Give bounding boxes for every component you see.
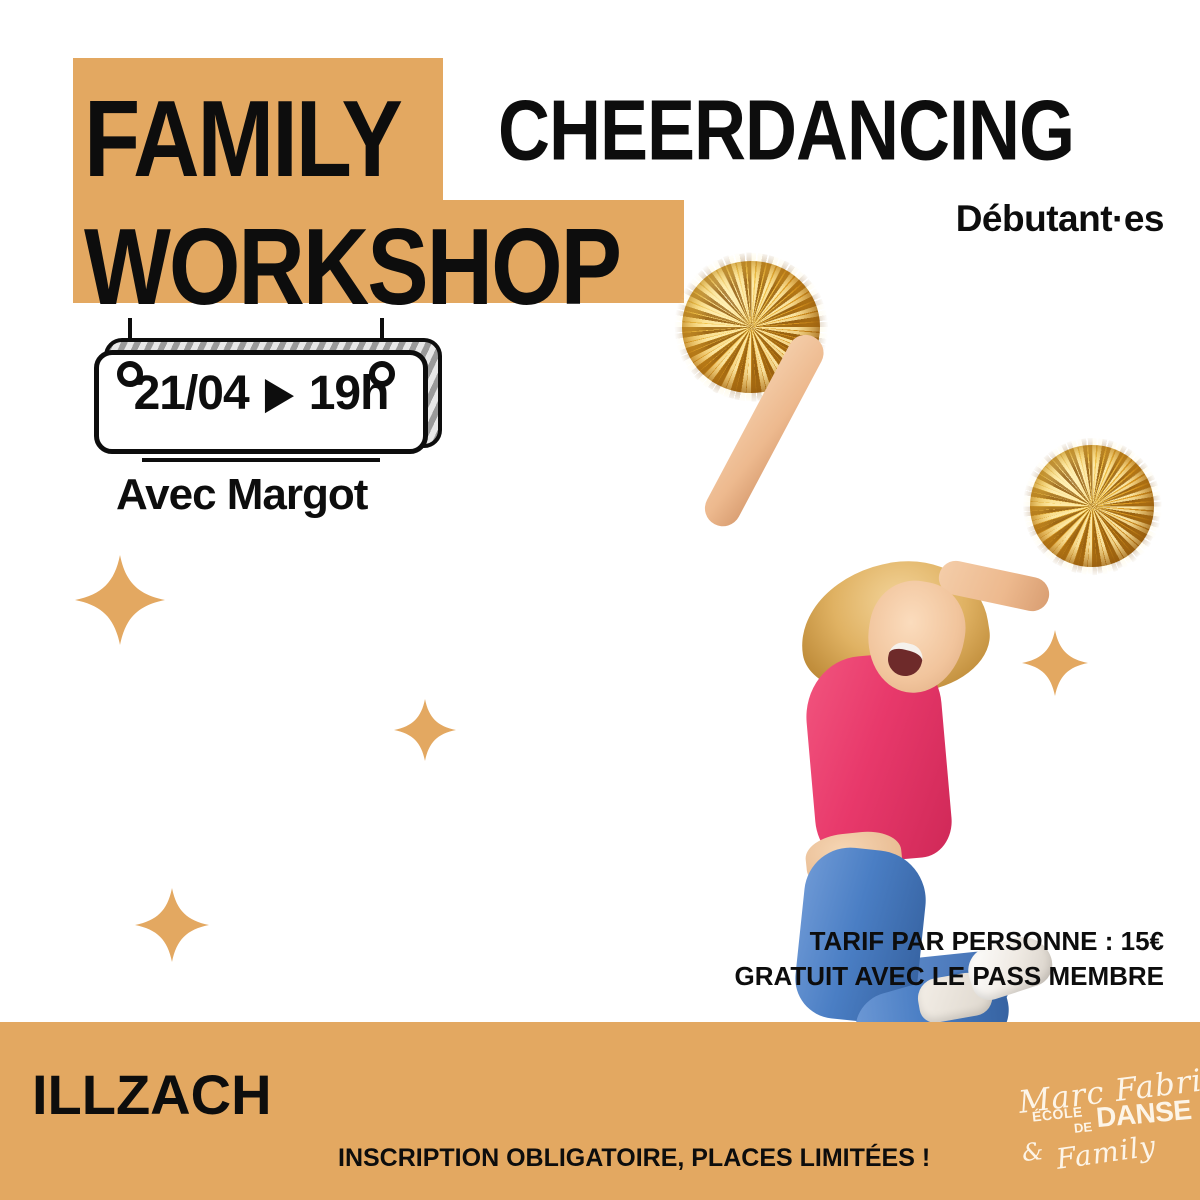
badge-time: 19h <box>309 367 389 420</box>
logo-ampersand: & <box>1021 1137 1045 1167</box>
brand-logo: Marc Fabrici ÉCOLE DE DANSE & Family <box>1012 1050 1182 1180</box>
footer-band: ILLZACH INSCRIPTION OBLIGATOIRE, PLACES … <box>0 1022 1200 1200</box>
star-medium-lower-icon <box>135 888 209 962</box>
pricing-block: TARIF PAR PERSONNE : 15€ GRATUIT AVEC LE… <box>735 924 1165 994</box>
discipline-title: CHEERDANCING <box>498 83 1074 180</box>
price-member-pass: GRATUIT AVEC LE PASS MEMBRE <box>735 959 1165 994</box>
poster-canvas: FAMILY WORKSHOP CHEERDANCING Débutant·es… <box>0 0 1200 1200</box>
badge-datetime-text: 21/04 ▶ 19h <box>90 366 432 421</box>
logo-family-text: Family <box>1054 1129 1158 1176</box>
star-medium-mid-icon <box>394 699 456 761</box>
badge-date: 21/04 <box>134 367 249 420</box>
cheerleader-photo <box>650 245 1190 935</box>
logo-danse-text: DANSE <box>1095 1094 1193 1134</box>
play-triangle-icon: ▶ <box>264 368 294 417</box>
footer-city: ILLZACH <box>32 1062 272 1127</box>
pompom-right-icon <box>1030 445 1154 567</box>
discipline-level: Débutant·es <box>956 198 1164 240</box>
date-time-badge: 21/04 ▶ 19h <box>90 318 450 473</box>
headline-family: FAMILY <box>84 85 401 194</box>
price-per-person: TARIF PAR PERSONNE : 15€ <box>735 924 1165 959</box>
logo-de-text: DE <box>1073 1119 1093 1136</box>
badge-bottom-rule <box>142 458 380 462</box>
headline-workshop: WORKSHOP <box>84 213 620 322</box>
footer-registration-note: INSCRIPTION OBLIGATOIRE, PLACES LIMITÉES… <box>338 1144 930 1173</box>
instructor-label: Avec Margot <box>116 470 367 520</box>
star-large-left-icon <box>75 555 165 645</box>
